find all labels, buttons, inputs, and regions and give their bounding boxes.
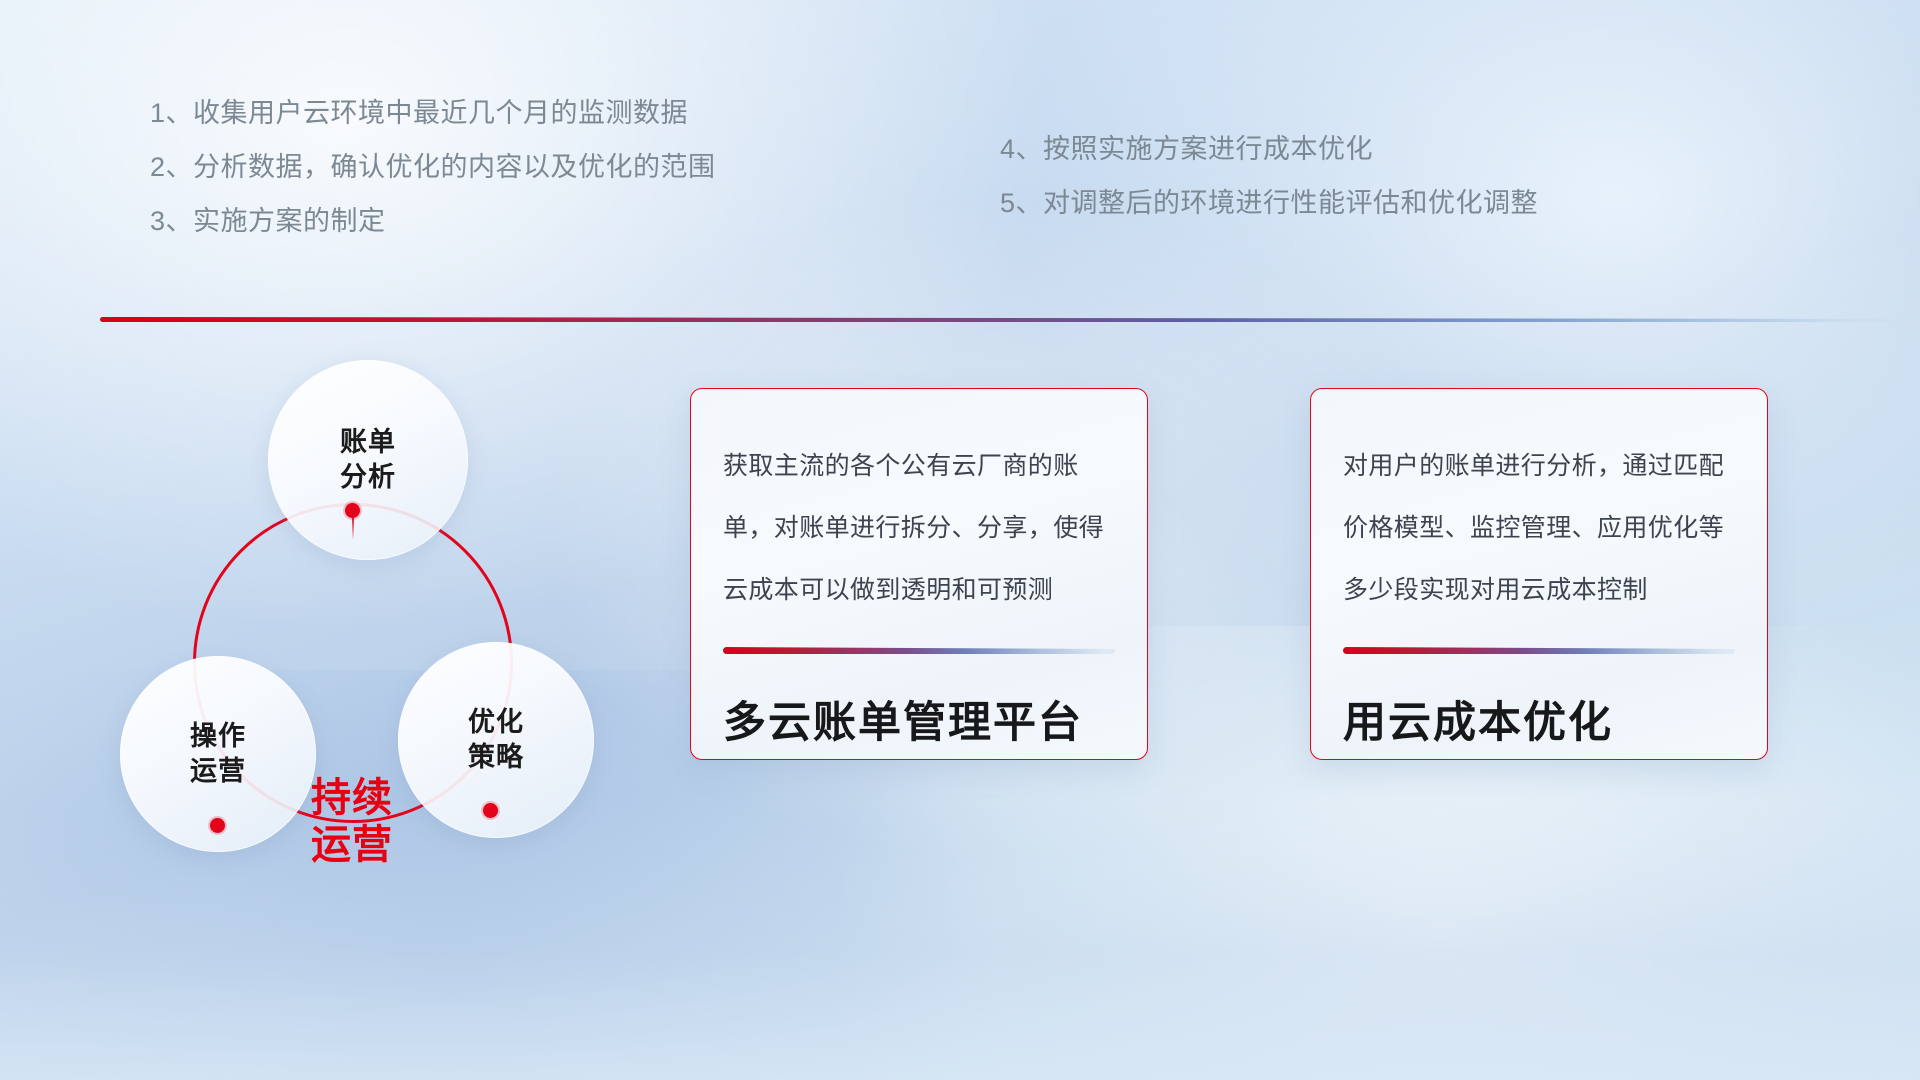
steps-column-left: 1、收集用户云环境中最近几个月的监测数据 2、分析数据，确认优化的内容以及优化的…: [150, 86, 716, 248]
card-divider-rule: [1343, 647, 1735, 654]
card-title: 多云账单管理平台: [723, 688, 1115, 750]
feature-card-cloud-cost-optimization[interactable]: 对用户的账单进行分析，通过匹配价格模型、监控管理、应用优化等多少段实现对用云成本…: [1310, 388, 1768, 760]
venn-node-label: 操作 运营: [190, 719, 246, 789]
venn-node-dot-right: [483, 803, 498, 818]
step-item-1: 1、收集用户云环境中最近几个月的监测数据: [150, 86, 716, 140]
venn-node-label-line2: 策略: [468, 742, 524, 772]
venn-node-dot-top: [345, 503, 360, 518]
venn-node-label-line2: 分析: [340, 462, 396, 492]
venn-node-label-line1: 优化: [468, 707, 524, 737]
venn-center-label: 持续 运营: [252, 775, 452, 869]
step-item-5: 5、对调整后的环境进行性能评估和优化调整: [1000, 176, 1538, 230]
venn-node-billing-analysis[interactable]: 账单 分析: [268, 360, 468, 560]
venn-node-dot-left: [210, 818, 225, 833]
venn-node-label-line1: 操作: [190, 721, 246, 751]
step-item-2: 2、分析数据，确认优化的内容以及优化的范围: [150, 140, 716, 194]
venn-center-label-line1: 持续: [311, 776, 393, 820]
steps-column-right: 4、按照实施方案进行成本优化 5、对调整后的环境进行性能评估和优化调整: [1000, 122, 1538, 230]
step-item-4: 4、按照实施方案进行成本优化: [1000, 122, 1538, 176]
venn-center-label-line2: 运营: [311, 823, 393, 867]
feature-card-multicloud-billing[interactable]: 获取主流的各个公有云厂商的账单，对账单进行拆分、分享，使得云成本可以做到透明和可…: [690, 388, 1148, 760]
card-divider-rule: [723, 647, 1115, 654]
venn-node-label: 账单 分析: [340, 425, 396, 495]
card-body-text: 对用户的账单进行分析，通过匹配价格模型、监控管理、应用优化等多少段实现对用云成本…: [1343, 435, 1735, 621]
card-body-text: 获取主流的各个公有云厂商的账单，对账单进行拆分、分享，使得云成本可以做到透明和可…: [723, 435, 1115, 621]
venn-node-label-line2: 运营: [190, 756, 246, 786]
venn-connector-stem: [352, 516, 354, 540]
venn-node-label-line1: 账单: [340, 427, 396, 457]
venn-node-label: 优化 策略: [468, 705, 524, 775]
step-item-3: 3、实施方案的制定: [150, 194, 716, 248]
venn-diagram: 账单 分析 操作 运营 优化 策略 持续 运营: [100, 360, 620, 930]
steps-section: 1、收集用户云环境中最近几个月的监测数据 2、分析数据，确认优化的内容以及优化的…: [0, 86, 1920, 246]
card-title: 用云成本优化: [1343, 688, 1735, 750]
